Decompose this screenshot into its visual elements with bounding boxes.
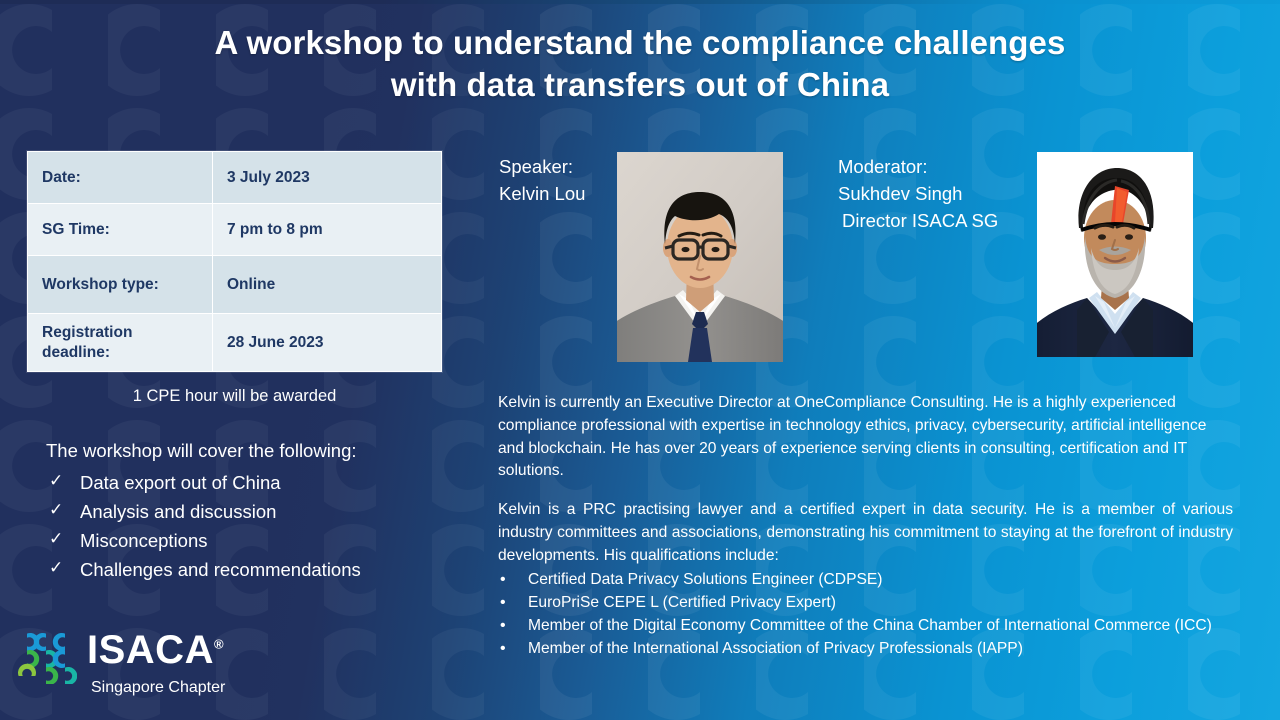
detail-value-workshop-type: Online [213,256,442,314]
detail-value-date: 3 July 2023 [213,152,442,204]
top-accent-strip [0,0,1280,4]
workshop-coverage-section: The workshop will cover the following: ✓… [46,438,446,585]
detail-key-sg-time: SG Time: [28,204,213,256]
coverage-item-label: Misconceptions [80,530,208,551]
list-item: • EuroPriSe CEPE L (Certified Privacy Ex… [498,592,1233,615]
detail-value-sg-time: 7 pm to 8 pm [213,204,442,256]
speaker-name: Kelvin Lou [499,181,585,208]
detail-value-registration-deadline: 28 June 2023 [213,314,442,372]
table-row: SG Time: 7 pm to 8 pm [28,204,442,256]
cpe-note: 1 CPE hour will be awarded [27,386,442,407]
list-item: ✓ Challenges and recommendations [46,555,446,584]
isaca-rings-icon [17,632,77,684]
coverage-item-label: Analysis and discussion [80,501,276,522]
speaker-role-label: Speaker: [499,154,585,181]
coverage-item-label: Data export out of China [80,472,281,493]
check-icon: ✓ [49,468,63,495]
coverage-item-label: Challenges and recommendations [80,559,361,580]
isaca-logo: ISACA® Singapore Chapter [17,630,232,708]
table-row: Workshop type: Online [28,256,442,314]
isaca-chapter-label: Singapore Chapter [91,680,225,696]
bio-paragraph-2: Kelvin is a PRC practising lawyer and a … [498,499,1233,567]
detail-key-workshop-type: Workshop type: [28,256,213,314]
qualification-label: EuroPriSe CEPE L (Certified Privacy Expe… [528,594,836,611]
title-line-2: with data transfers out of China [0,64,1280,106]
coverage-list: ✓ Data export out of China ✓ Analysis an… [46,468,446,585]
speaker-caption: Speaker: Kelvin Lou [499,154,585,208]
check-icon: ✓ [49,526,63,553]
list-item: • Member of the Digital Economy Committe… [498,615,1233,638]
list-item: ✓ Misconceptions [46,526,446,555]
moderator-role-label: Moderator: [838,154,998,181]
slide-title: A workshop to understand the compliance … [0,22,1280,106]
check-icon: ✓ [49,497,63,524]
detail-key-registration-deadline: Registration deadline: [28,314,213,372]
moderator-name: Sukhdev Singh [838,181,998,208]
list-item: ✓ Data export out of China [46,468,446,497]
qualification-label: Member of the Digital Economy Committee … [528,617,1212,634]
speaker-headshot-photo [617,152,783,362]
moderator-title: Director ISACA SG [838,208,998,235]
check-icon: ✓ [49,555,63,582]
list-item: • Member of the International Associatio… [498,638,1233,661]
speaker-biography: Kelvin is currently an Executive Directo… [498,392,1233,661]
detail-key-date: Date: [28,152,213,204]
bullet-icon: • [500,591,506,615]
title-line-1: A workshop to understand the compliance … [215,24,1066,61]
workshop-details-table: Date: 3 July 2023 SG Time: 7 pm to 8 pm … [27,151,442,372]
qualifications-list: • Certified Data Privacy Solutions Engin… [498,569,1233,661]
registered-trademark-icon: ® [214,637,224,652]
qualification-label: Certified Data Privacy Solutions Enginee… [528,571,882,588]
bio-paragraph-1: Kelvin is currently an Executive Directo… [498,392,1233,483]
list-item: ✓ Analysis and discussion [46,497,446,526]
slide-canvas: A workshop to understand the compliance … [0,0,1280,720]
bullet-icon: • [500,614,506,638]
coverage-lead-text: The workshop will cover the following: [46,438,446,465]
qualification-label: Member of the International Association … [528,640,1023,657]
isaca-wordmark-text: ISACA [87,628,214,672]
isaca-wordmark: ISACA® [87,630,224,670]
moderator-caption: Moderator: Sukhdev Singh Director ISACA … [838,154,998,234]
bullet-icon: • [500,568,506,592]
table-row: Date: 3 July 2023 [28,152,442,204]
bullet-icon: • [500,637,506,661]
moderator-headshot-photo [1037,152,1193,357]
list-item: • Certified Data Privacy Solutions Engin… [498,569,1233,592]
table-row: Registration deadline: 28 June 2023 [28,314,442,372]
